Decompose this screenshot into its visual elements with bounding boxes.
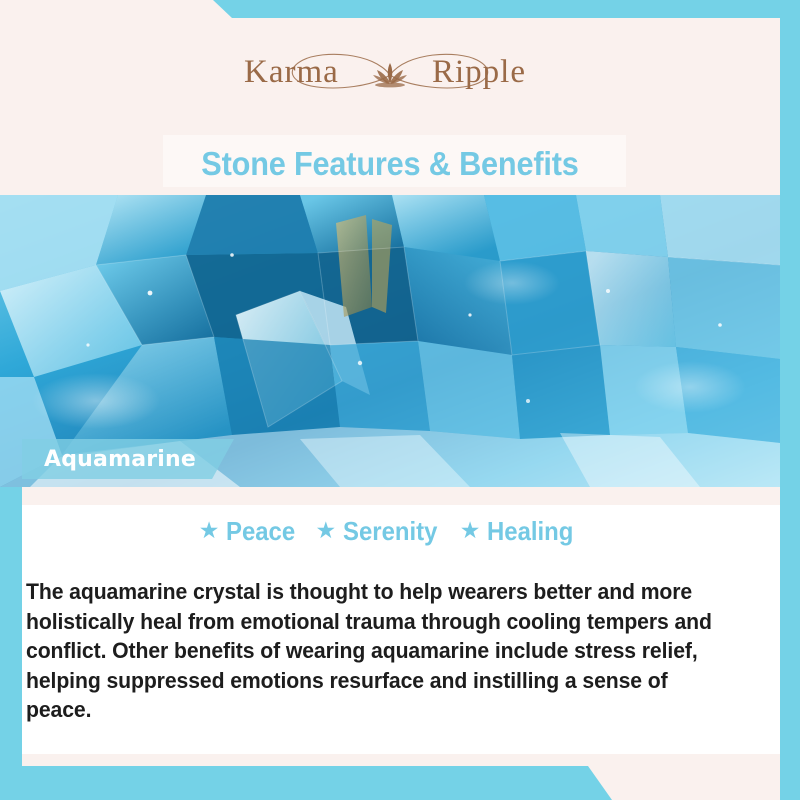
brand-word-left: Karma	[240, 54, 339, 91]
decorative-left-bar	[0, 487, 22, 800]
decorative-right-bar	[780, 0, 800, 800]
page-title: Stone Features & Benefits	[27, 132, 752, 195]
stone-name-label: Aquamarine	[44, 447, 196, 472]
brand-logo[interactable]: Karma Ripple	[240, 39, 540, 111]
description-paragraph: The aquamarine crystal is thought to hel…	[26, 577, 727, 725]
content-top-strip	[0, 487, 780, 505]
benefit-label: Peace	[226, 516, 295, 547]
stone-name-badge: Aquamarine	[22, 439, 234, 479]
benefit-item: ★ Peace	[199, 516, 302, 547]
benefit-item: ★ Serenity	[316, 516, 446, 547]
benefit-item: ★ Healing	[460, 516, 582, 547]
content-section: ★ Peace ★ Serenity ★ Healing The aquamar…	[0, 487, 780, 800]
benefit-label: Serenity	[343, 516, 437, 547]
star-icon: ★	[316, 519, 337, 542]
infographic-card: Aquamarine Karma Ri	[0, 0, 800, 800]
star-icon: ★	[460, 519, 481, 542]
decorative-top-bar	[0, 0, 800, 18]
star-icon: ★	[199, 519, 220, 542]
benefits-row: ★ Peace ★ Serenity ★ Healing	[0, 516, 780, 547]
brand-header: Karma Ripple	[0, 18, 780, 132]
brand-word-right: Ripple	[432, 54, 530, 91]
benefit-label: Healing	[487, 516, 573, 547]
hero-crystal-image: Aquamarine	[0, 195, 780, 487]
